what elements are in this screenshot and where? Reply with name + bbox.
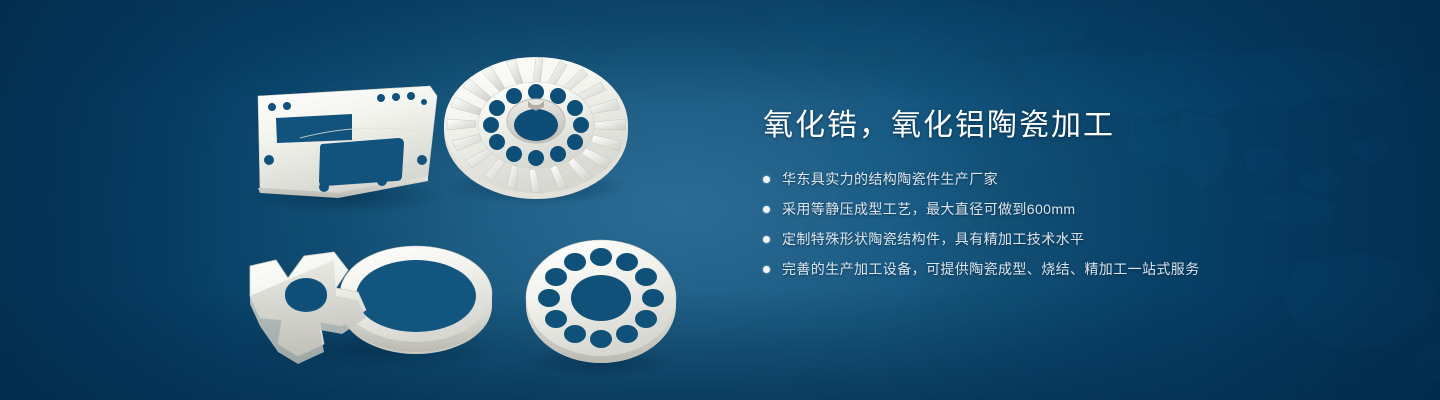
bullet-dot-icon — [763, 236, 770, 243]
bullet-dot-icon — [763, 176, 770, 183]
ceramic-cross-plate-and-ring — [235, 246, 505, 372]
banner-copy: 氧化锆，氧化铝陶瓷加工 华东具实力的结构陶瓷件生产厂家 采用等静压成型工艺，最大… — [763, 106, 1383, 280]
list-item-label: 完善的生产加工设备，可提供陶瓷成型、烧结、精加工一站式服务 — [782, 258, 1200, 280]
ceramic-impeller-disc — [444, 57, 628, 205]
bullet-dot-icon — [763, 266, 770, 273]
page-title: 氧化锆，氧化铝陶瓷加工 — [763, 106, 1383, 146]
hero-banner: 氧化锆，氧化铝陶瓷加工 华东具实力的结构陶瓷件生产厂家 采用等静压成型工艺，最大… — [0, 0, 1440, 400]
list-item: 采用等静压成型工艺，最大直径可做到600mm — [763, 198, 1383, 220]
product-photo-group — [0, 0, 720, 400]
bullet-dot-icon — [763, 206, 770, 213]
list-item-label: 华东具实力的结构陶瓷件生产厂家 — [782, 168, 998, 190]
feature-list: 华东具实力的结构陶瓷件生产厂家 采用等静压成型工艺，最大直径可做到600mm 定… — [763, 168, 1383, 280]
list-item: 华东具实力的结构陶瓷件生产厂家 — [763, 168, 1383, 190]
ceramic-perforated-disc — [525, 240, 677, 378]
ceramic-machined-plate — [245, 86, 445, 214]
list-item-label: 采用等静压成型工艺，最大直径可做到600mm — [782, 198, 1075, 220]
list-item: 定制特殊形状陶瓷结构件，具有精加工技术水平 — [763, 228, 1383, 250]
list-item-label: 定制特殊形状陶瓷结构件，具有精加工技术水平 — [782, 228, 1084, 250]
list-item: 完善的生产加工设备，可提供陶瓷成型、烧结、精加工一站式服务 — [763, 258, 1383, 280]
